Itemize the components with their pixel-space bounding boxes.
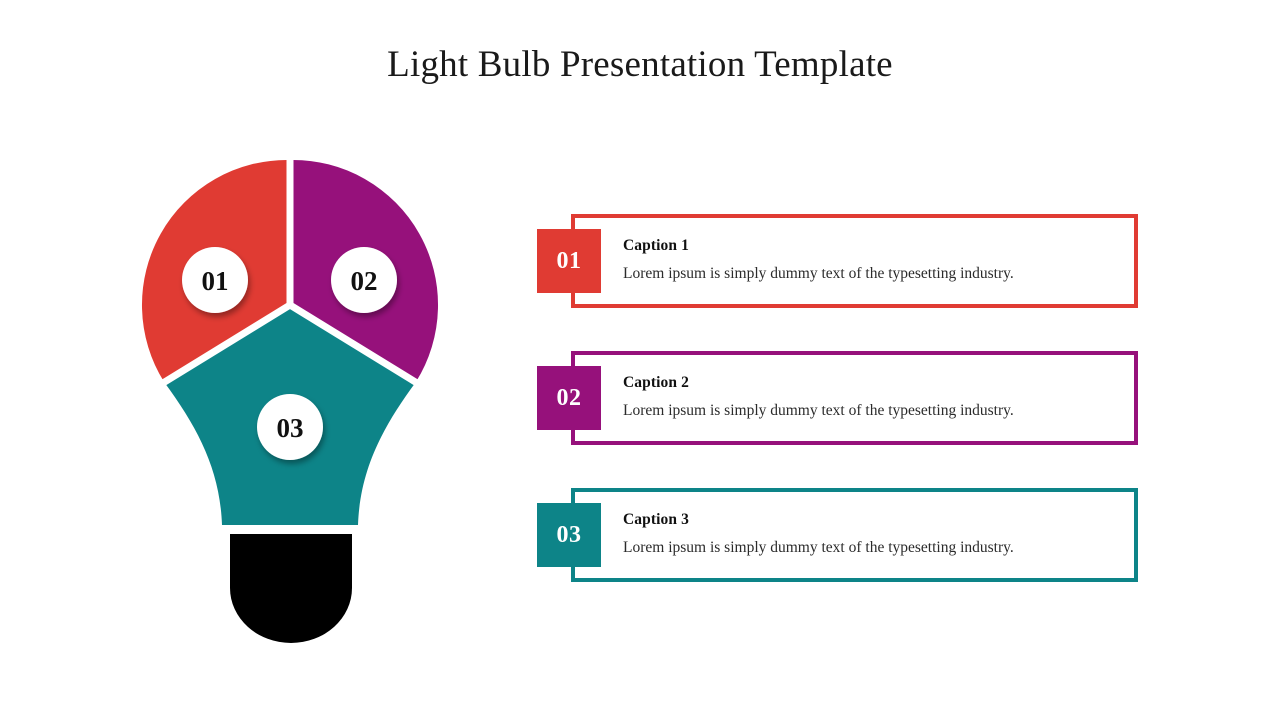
caption-body-02: Lorem ipsum is simply dummy text of the … xyxy=(623,401,1123,421)
caption-body-01: Lorem ipsum is simply dummy text of the … xyxy=(623,264,1123,284)
caption-badge-02[interactable]: 02 xyxy=(537,366,601,430)
bulb-number-02[interactable]: 02 xyxy=(331,247,397,313)
page-title: Light Bulb Presentation Template xyxy=(0,40,1280,90)
caption-heading-02: Caption 2 xyxy=(623,373,1123,393)
caption-row-02[interactable]: 02 Caption 2 Lorem ipsum is simply dummy… xyxy=(537,351,1138,445)
caption-text-01: Caption 1 Lorem ipsum is simply dummy te… xyxy=(623,236,1123,284)
bulb-number-01[interactable]: 01 xyxy=(182,247,248,313)
caption-body-03: Lorem ipsum is simply dummy text of the … xyxy=(623,538,1123,558)
bulb-number-03-label: 03 xyxy=(277,413,304,443)
caption-row-01[interactable]: 01 Caption 1 Lorem ipsum is simply dummy… xyxy=(537,214,1138,308)
caption-badge-03[interactable]: 03 xyxy=(537,503,601,567)
caption-row-03[interactable]: 03 Caption 3 Lorem ipsum is simply dummy… xyxy=(537,488,1138,582)
slide-canvas: Light Bulb Presentation Template xyxy=(0,0,1280,720)
bulb-number-03[interactable]: 03 xyxy=(257,394,323,460)
light-bulb-diagram: 01 02 03 xyxy=(120,140,480,660)
caption-text-03: Caption 3 Lorem ipsum is simply dummy te… xyxy=(623,510,1123,558)
caption-heading-01: Caption 1 xyxy=(623,236,1123,256)
caption-badge-01[interactable]: 01 xyxy=(537,229,601,293)
caption-heading-03: Caption 3 xyxy=(623,510,1123,530)
bulb-number-02-label: 02 xyxy=(351,266,378,296)
bulb-number-01-label: 01 xyxy=(202,266,229,296)
caption-text-02: Caption 2 Lorem ipsum is simply dummy te… xyxy=(623,373,1123,421)
bulb-base xyxy=(230,534,352,643)
